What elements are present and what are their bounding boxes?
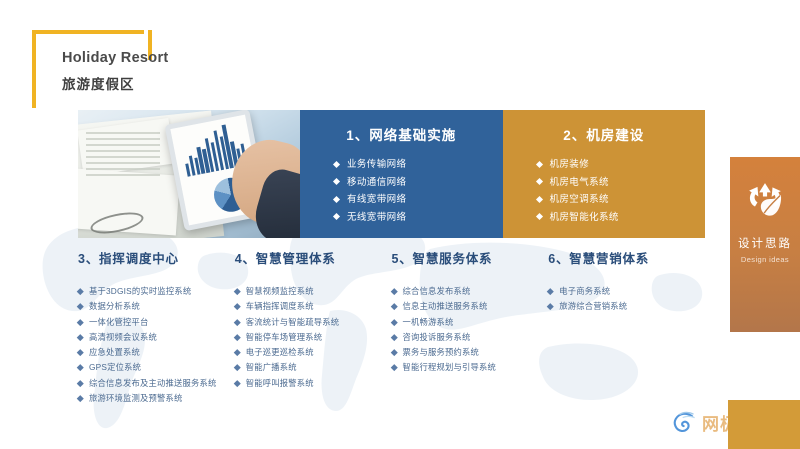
- list-item[interactable]: 咨询投诉服务系统: [392, 330, 549, 345]
- diamond-bullet-icon: [234, 380, 240, 386]
- list-item[interactable]: 机房装修: [537, 156, 706, 174]
- column-4-list: 智慧视频监控系统 车辆指挥调度系统 客流统计与智能疏导系统 智能停车场管理系统 …: [235, 284, 392, 391]
- diamond-bullet-icon: [391, 303, 397, 309]
- diamond-bullet-icon: [77, 380, 83, 386]
- list-item[interactable]: 综合信息发布系统: [392, 284, 549, 299]
- column-3-list: 基于3DGIS的实时监控系统 数据分析系统 一体化管控平台 高清视频会议系统 应…: [78, 284, 235, 406]
- banner-section-2-heading: 2、机房建设: [503, 124, 706, 144]
- list-item-label: 一机畅游系统: [403, 317, 454, 327]
- photo-text-lines: [86, 132, 160, 180]
- list-item[interactable]: GPS定位系统: [78, 360, 235, 375]
- column-6[interactable]: 6、智慧营销体系 电子商务系统 旅游综合营销系统: [548, 248, 705, 398]
- diamond-bullet-icon: [333, 195, 340, 202]
- diamond-bullet-icon: [333, 213, 340, 220]
- list-item[interactable]: 智慧视频监控系统: [235, 284, 392, 299]
- list-item[interactable]: 客流统计与智能疏导系统: [235, 315, 392, 330]
- list-item[interactable]: 业务传输网络: [334, 156, 503, 174]
- diamond-bullet-icon: [234, 349, 240, 355]
- diamond-bullet-icon: [391, 334, 397, 340]
- list-item-label: 机房装修: [550, 159, 590, 170]
- list-item-label: GPS定位系统: [89, 362, 141, 372]
- diamond-bullet-icon: [77, 288, 83, 294]
- diamond-bullet-icon: [234, 334, 240, 340]
- banner-section-1-list: 业务传输网络 移动通信网络 有线宽带网络 无线宽带网络: [300, 156, 503, 226]
- diamond-bullet-icon: [333, 178, 340, 185]
- banner-section-1[interactable]: 1、网络基础实施 业务传输网络 移动通信网络 有线宽带网络 无线宽带网络: [300, 110, 503, 238]
- column-3-heading: 3、指挥调度中心: [78, 248, 235, 267]
- slide-title: Holiday Resort 旅游度假区: [62, 48, 169, 94]
- design-ideas-sidebar[interactable]: 设计思路 Design ideas: [730, 157, 800, 332]
- list-item-label: 旅游综合营销系统: [559, 301, 627, 311]
- diamond-bullet-icon: [77, 365, 83, 371]
- list-item-label: 信息主动推送服务系统: [403, 301, 488, 311]
- diamond-bullet-icon: [391, 349, 397, 355]
- list-item-label: 客流统计与智能疏导系统: [246, 317, 339, 327]
- content-columns: 3、指挥调度中心 基于3DGIS的实时监控系统 数据分析系统 一体化管控平台 高…: [78, 248, 705, 398]
- list-item-label: 有线宽带网络: [347, 194, 406, 205]
- diamond-bullet-icon: [391, 365, 397, 371]
- list-item[interactable]: 一机畅游系统: [392, 315, 549, 330]
- corner-orange-block: [728, 400, 800, 449]
- diamond-bullet-icon: [77, 319, 83, 325]
- list-item[interactable]: 无线宽带网络: [334, 209, 503, 227]
- banner-section-1-heading: 1、网络基础实施: [300, 124, 503, 144]
- banner-photo: [78, 110, 300, 238]
- list-item[interactable]: 智能行程规划与引导系统: [392, 360, 549, 375]
- list-item-label: 无线宽带网络: [347, 212, 406, 223]
- list-item-label: 机房智能化系统: [550, 212, 619, 223]
- diamond-bullet-icon: [234, 303, 240, 309]
- list-item-label: 智能行程规划与引导系统: [403, 362, 496, 372]
- diamond-bullet-icon: [535, 195, 542, 202]
- list-item[interactable]: 智能呼叫报警系统: [235, 376, 392, 391]
- list-item[interactable]: 信息主动推送服务系统: [392, 299, 549, 314]
- list-item-label: 电子商务系统: [559, 286, 610, 296]
- list-item-label: 移动通信网络: [347, 177, 406, 188]
- list-item[interactable]: 移动通信网络: [334, 174, 503, 192]
- list-item-label: 一体化管控平台: [89, 317, 148, 327]
- list-item-label: 综合信息发布及主动推送服务系统: [89, 378, 216, 388]
- column-4[interactable]: 4、智慧管理体系 智慧视频监控系统 车辆指挥调度系统 客流统计与智能疏导系统 智…: [235, 248, 392, 398]
- banner-section-2-list: 机房装修 机房电气系统 机房空调系统 机房智能化系统: [503, 156, 706, 226]
- diamond-bullet-icon: [535, 160, 542, 167]
- list-item-label: 车辆指挥调度系统: [246, 301, 314, 311]
- diamond-bullet-icon: [333, 160, 340, 167]
- list-item-label: 电子巡更巡检系统: [246, 347, 314, 357]
- list-item[interactable]: 数据分析系统: [78, 299, 235, 314]
- list-item-label: 旅游环境监测及预警系统: [89, 393, 182, 403]
- diamond-bullet-icon: [535, 178, 542, 185]
- list-item-label: 智能停车场管理系统: [246, 332, 322, 342]
- list-item[interactable]: 机房智能化系统: [537, 209, 706, 227]
- column-5[interactable]: 5、智慧服务体系 综合信息发布系统 信息主动推送服务系统 一机畅游系统 咨询投诉…: [392, 248, 549, 398]
- list-item[interactable]: 有线宽带网络: [334, 191, 503, 209]
- list-item[interactable]: 机房电气系统: [537, 174, 706, 192]
- diamond-bullet-icon: [77, 334, 83, 340]
- diamond-bullet-icon: [234, 288, 240, 294]
- list-item[interactable]: 车辆指挥调度系统: [235, 299, 392, 314]
- diamond-bullet-icon: [234, 319, 240, 325]
- list-item[interactable]: 高清视频会议系统: [78, 330, 235, 345]
- banner-section-2[interactable]: 2、机房建设 机房装修 机房电气系统 机房空调系统 机房智能化系统: [503, 110, 706, 238]
- list-item-label: 智能广播系统: [246, 362, 297, 372]
- list-item[interactable]: 电子商务系统: [548, 284, 705, 299]
- list-item-label: 咨询投诉服务系统: [403, 332, 471, 342]
- list-item[interactable]: 票务与服务预约系统: [392, 345, 549, 360]
- diamond-bullet-icon: [391, 288, 397, 294]
- list-item[interactable]: 机房空调系统: [537, 191, 706, 209]
- recycle-leaf-icon: [730, 179, 800, 219]
- list-item[interactable]: 基于3DGIS的实时监控系统: [78, 284, 235, 299]
- banner-row: 1、网络基础实施 业务传输网络 移动通信网络 有线宽带网络 无线宽带网络 2、机…: [78, 110, 705, 238]
- diamond-bullet-icon: [77, 349, 83, 355]
- list-item-label: 应急处置系统: [89, 347, 140, 357]
- sidebar-label-en: Design ideas: [730, 255, 800, 264]
- list-item-label: 数据分析系统: [89, 301, 140, 311]
- list-item[interactable]: 智能停车场管理系统: [235, 330, 392, 345]
- list-item-label: 机房空调系统: [550, 194, 609, 205]
- diamond-bullet-icon: [77, 395, 83, 401]
- list-item-label: 票务与服务预约系统: [403, 347, 479, 357]
- diamond-bullet-icon: [234, 365, 240, 371]
- list-item[interactable]: 综合信息发布及主动推送服务系统: [78, 376, 235, 391]
- list-item-label: 高清视频会议系统: [89, 332, 157, 342]
- list-item-label: 基于3DGIS的实时监控系统: [89, 286, 191, 296]
- list-item-label: 机房电气系统: [550, 177, 609, 188]
- column-3[interactable]: 3、指挥调度中心 基于3DGIS的实时监控系统 数据分析系统 一体化管控平台 高…: [78, 248, 235, 398]
- list-item-label: 业务传输网络: [347, 159, 406, 170]
- list-item-label: 综合信息发布系统: [403, 286, 471, 296]
- swirl-icon: [671, 409, 697, 435]
- list-item[interactable]: 旅游综合营销系统: [548, 299, 705, 314]
- column-6-list: 电子商务系统 旅游综合营销系统: [548, 284, 705, 315]
- list-item[interactable]: 智能广播系统: [235, 360, 392, 375]
- diamond-bullet-icon: [535, 213, 542, 220]
- list-item[interactable]: 电子巡更巡检系统: [235, 345, 392, 360]
- list-item-label: 智慧视频监控系统: [246, 286, 314, 296]
- sidebar-label-cn: 设计思路: [730, 235, 800, 251]
- title-english: Holiday Resort: [62, 48, 169, 68]
- list-item-label: 智能呼叫报警系统: [246, 378, 314, 388]
- diamond-bullet-icon: [77, 303, 83, 309]
- list-item[interactable]: 旅游环境监测及预警系统: [78, 391, 235, 406]
- list-item[interactable]: 一体化管控平台: [78, 315, 235, 330]
- list-item[interactable]: 应急处置系统: [78, 345, 235, 360]
- diamond-bullet-icon: [547, 288, 553, 294]
- column-5-heading: 5、智慧服务体系: [392, 248, 549, 267]
- diamond-bullet-icon: [547, 303, 553, 309]
- column-5-list: 综合信息发布系统 信息主动推送服务系统 一机畅游系统 咨询投诉服务系统 票务与服…: [392, 284, 549, 376]
- column-4-heading: 4、智慧管理体系: [235, 248, 392, 267]
- column-6-heading: 6、智慧营销体系: [548, 248, 705, 267]
- title-chinese: 旅游度假区: [62, 76, 169, 94]
- diamond-bullet-icon: [391, 319, 397, 325]
